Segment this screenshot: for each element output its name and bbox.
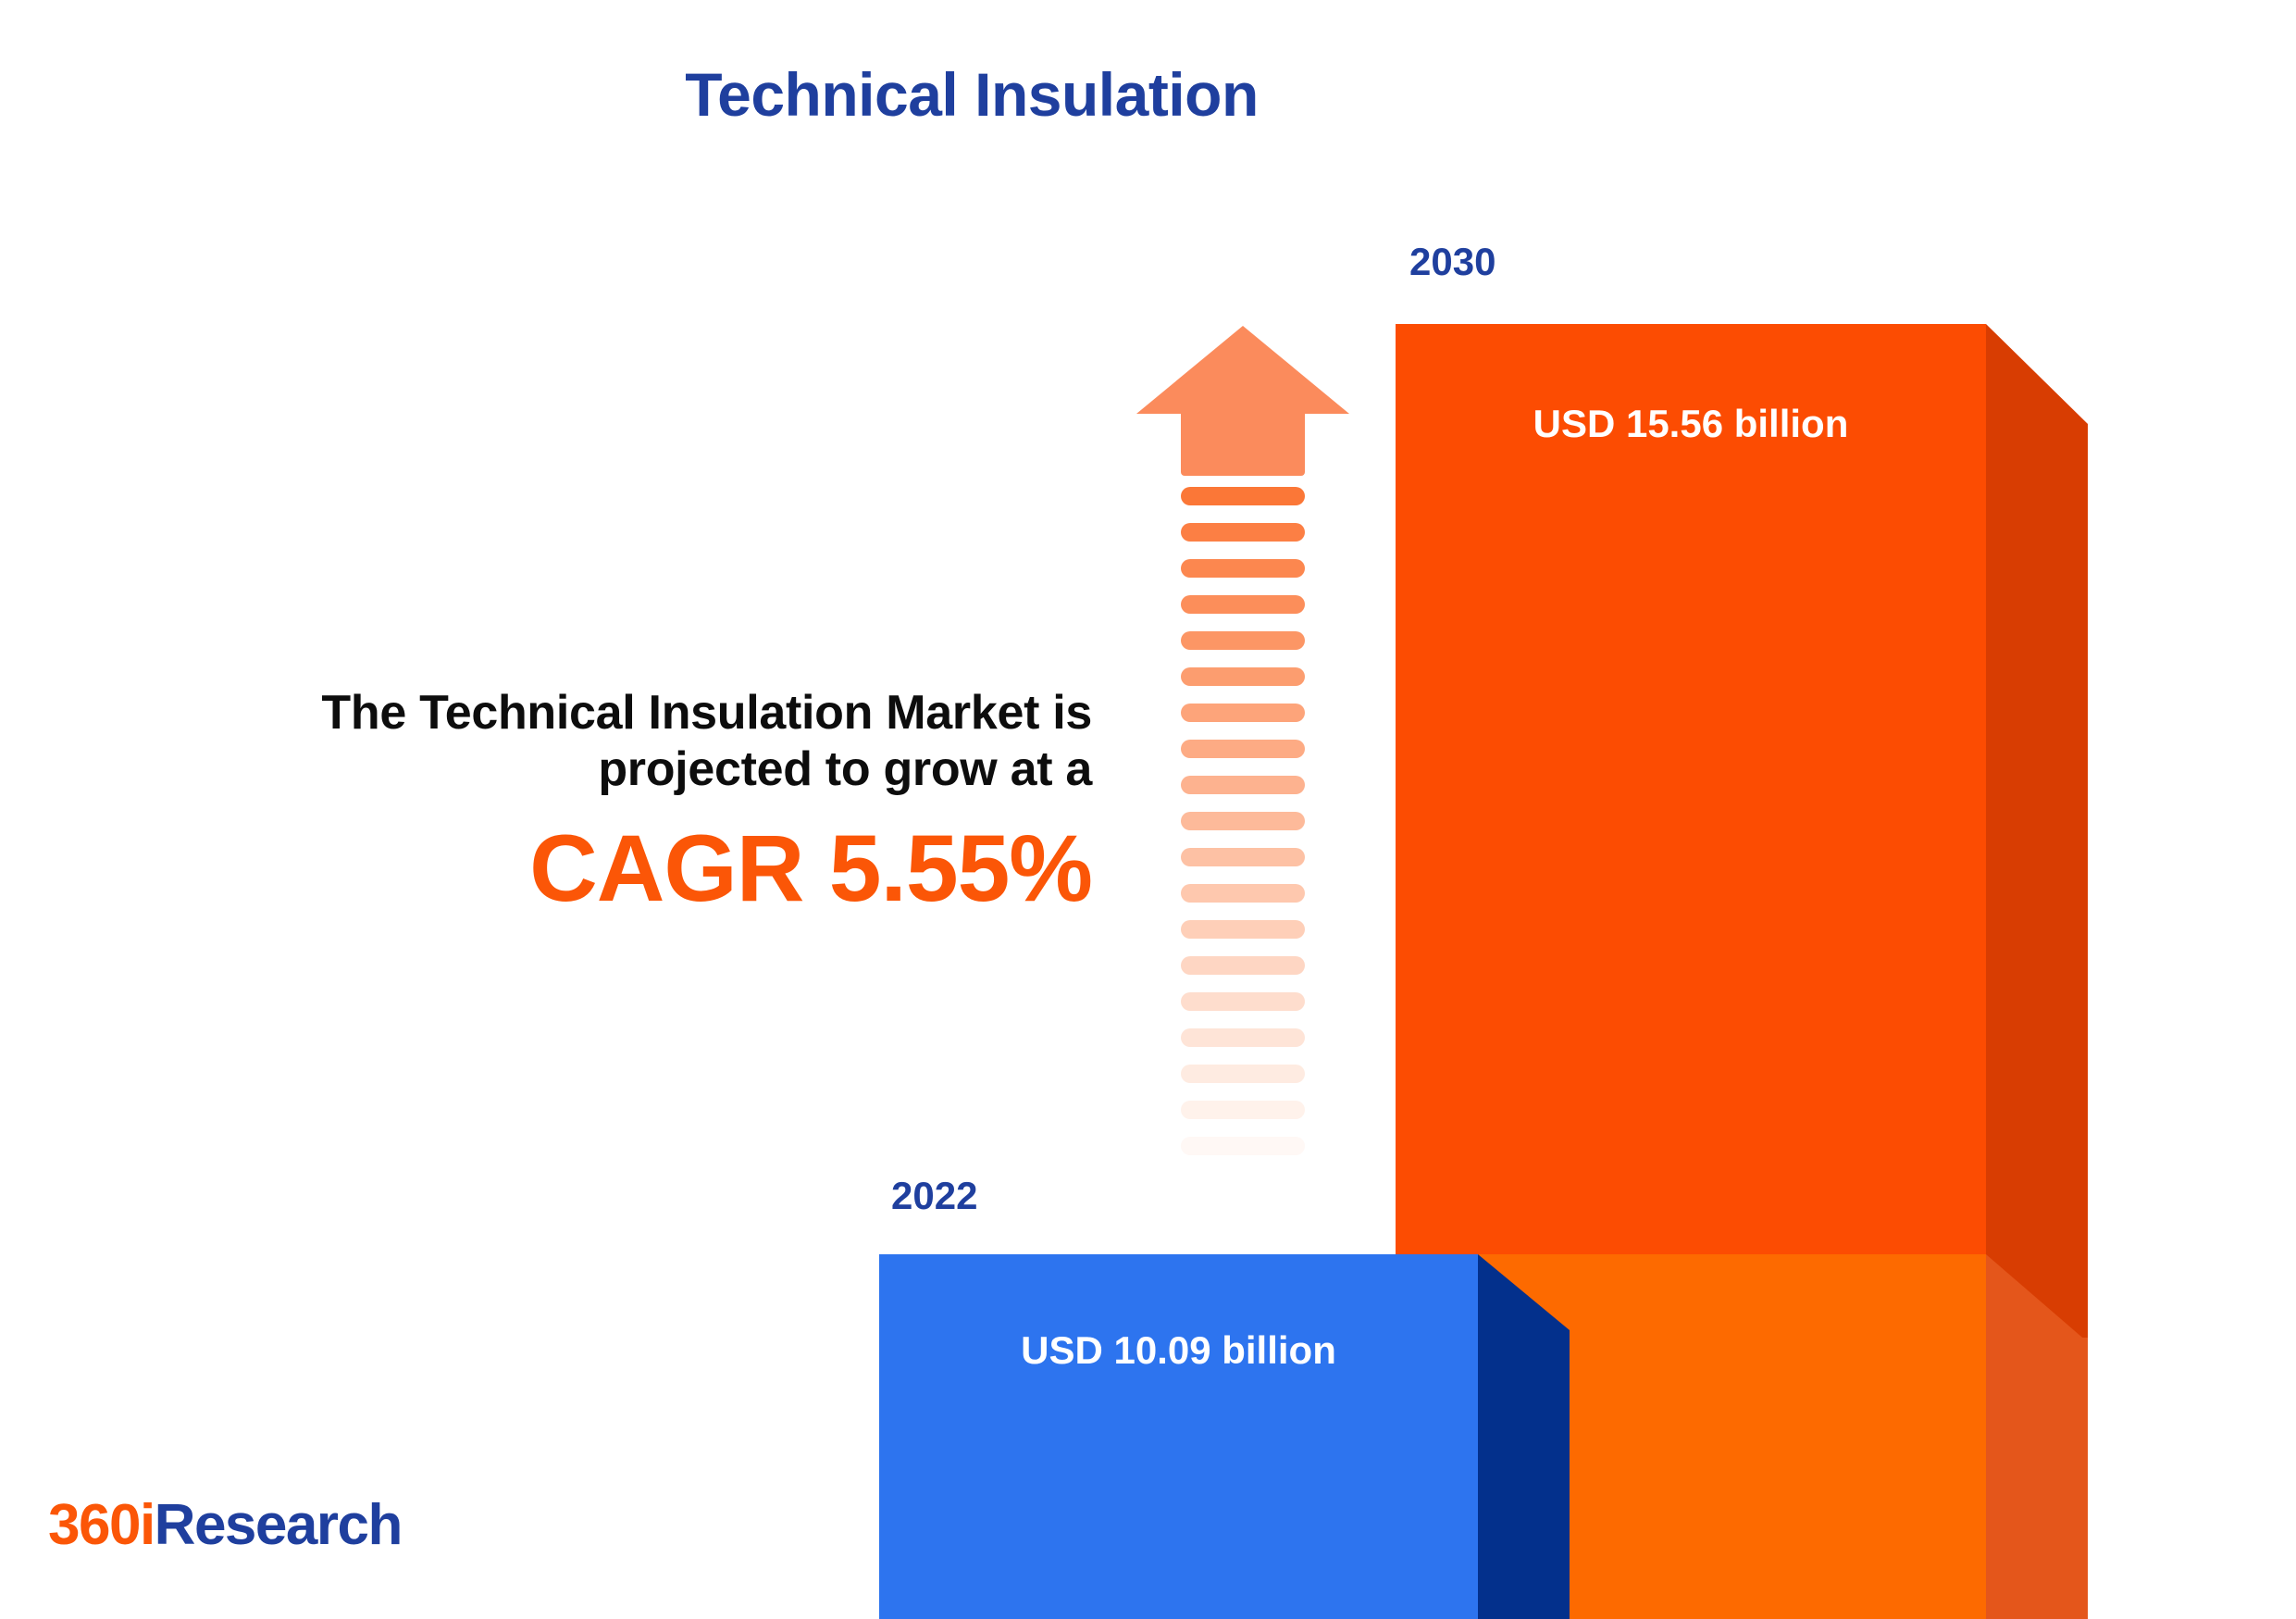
infographic-canvas: Technical Insulation The Technical Insul… xyxy=(0,0,2296,1619)
logo-text-360i: 360i xyxy=(48,1493,155,1557)
logo-text-research: Research xyxy=(155,1493,402,1557)
bar-2030-year-label: 2030 xyxy=(1409,240,1496,284)
brand-logo[interactable]: 360iResearch xyxy=(48,1492,402,1558)
bar-2022-year-label: 2022 xyxy=(891,1174,977,1218)
bar-2022-front-face xyxy=(879,1254,1478,1619)
bar-chart: 2030 USD 15.56 billion 2022 USD 10.09 bi… xyxy=(0,0,2296,1619)
bar-2030-value-label: USD 15.56 billion xyxy=(1396,402,1986,446)
bar-2022-value-label: USD 10.09 billion xyxy=(879,1328,1478,1373)
bar-2030-side-lower xyxy=(1986,1338,2088,1619)
